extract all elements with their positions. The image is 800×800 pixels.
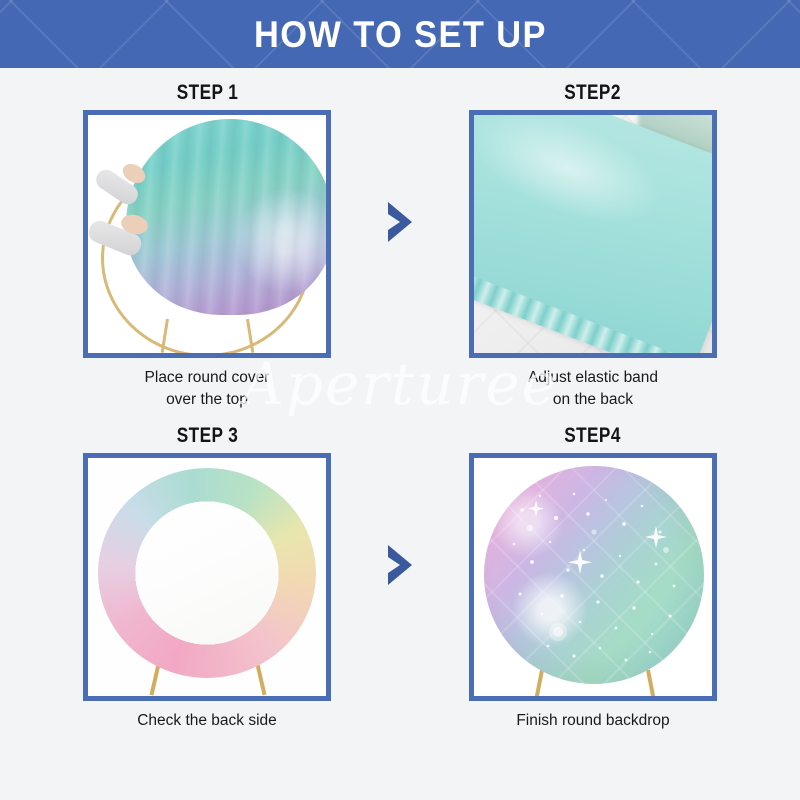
step-3-label: STEP 3 <box>176 425 237 446</box>
step-4-caption-line-1: Finish round backdrop <box>516 710 669 732</box>
star-sparkles-icon <box>484 466 704 684</box>
step-card-4: STEP4 <box>443 425 743 732</box>
step-card-1: STEP 1 Place round cover <box>57 82 357 411</box>
finished-round-backdrop <box>484 466 704 684</box>
step-2-caption: Adjust elastic band on the back <box>528 367 658 411</box>
chevron-right-icon <box>385 200 415 244</box>
step-1-image-frame <box>83 110 331 358</box>
step-1-caption-line-2: over the top <box>145 389 270 411</box>
step-2-image-frame <box>469 110 717 358</box>
steps-grid: STEP 1 Place round cover <box>0 68 800 732</box>
steps-row-top: STEP 1 Place round cover <box>0 82 800 411</box>
arrow-step3-to-step4-cell <box>357 543 443 587</box>
gradient-cover-cloth <box>126 119 326 315</box>
step-card-2: STEP2 Adjust elastic band on the back <box>443 82 743 411</box>
step-4-label: STEP4 <box>565 425 622 446</box>
steps-row-bottom: STEP 3 Check the back side S <box>0 425 800 732</box>
photo-elastic-band-closeup <box>474 115 712 353</box>
step-2-caption-line-2: on the back <box>528 389 658 411</box>
photo-finished-backdrop <box>474 458 712 696</box>
step-4-image-frame <box>469 453 717 701</box>
step-3-image-frame <box>83 453 331 701</box>
photo-back-side <box>88 458 326 696</box>
step-2-label: STEP2 <box>565 82 622 103</box>
step-card-3: STEP 3 Check the back side <box>57 425 357 732</box>
step-2-caption-line-1: Adjust elastic band <box>528 367 658 389</box>
chevron-right-icon <box>385 543 415 587</box>
photo-cover-over-arch <box>88 115 326 353</box>
step-4-caption: Finish round backdrop <box>516 710 669 732</box>
arrow-step1-to-step2-cell <box>357 200 443 244</box>
step-1-caption: Place round cover over the top <box>145 367 270 411</box>
page-title: HOW TO SET UP <box>254 16 547 53</box>
page-header: HOW TO SET UP <box>0 0 800 68</box>
step-1-label: STEP 1 <box>176 82 237 103</box>
step-1-caption-line-1: Place round cover <box>145 367 270 389</box>
step-3-caption: Check the back side <box>137 710 277 732</box>
step-3-caption-line-1: Check the back side <box>137 710 277 732</box>
pastel-rim-edge <box>98 468 316 678</box>
